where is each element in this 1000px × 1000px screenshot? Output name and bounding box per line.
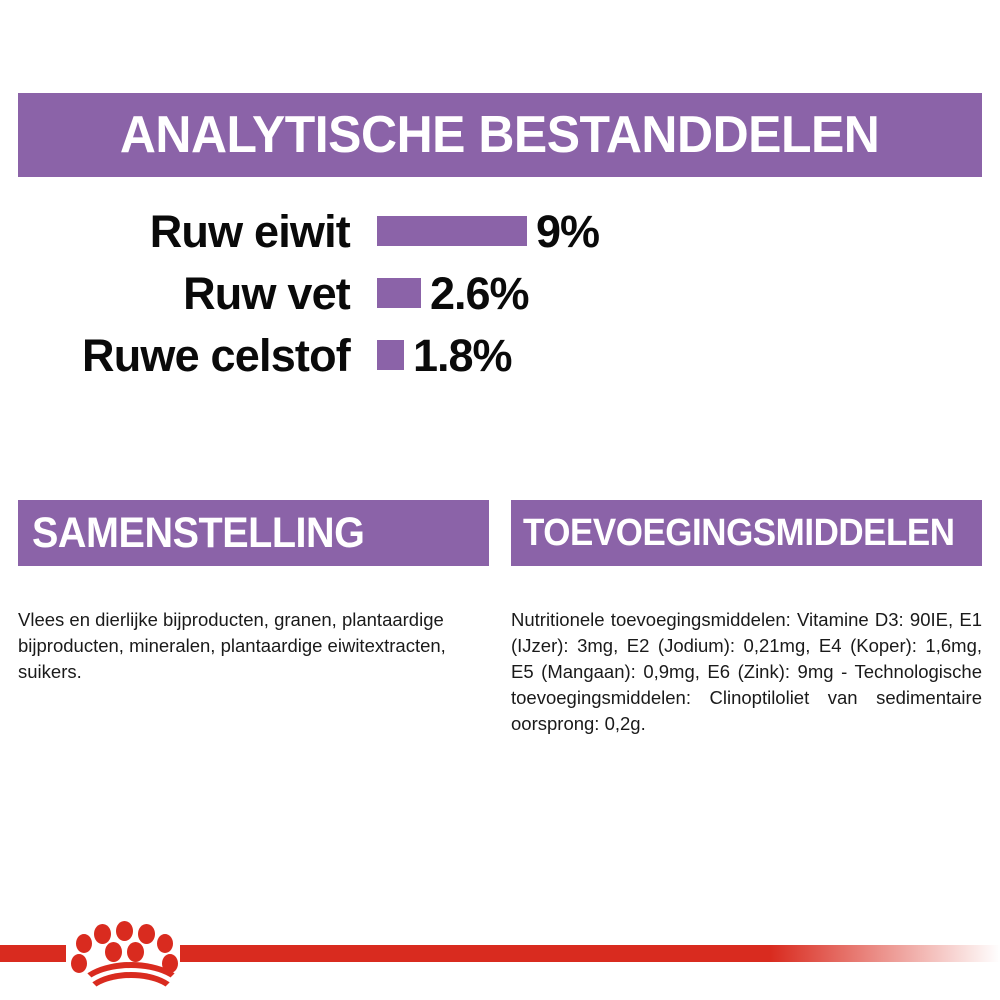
additives-title: TOEVOEGINGSMIDDELEN <box>523 514 955 552</box>
nutrient-value-crude-fibre: 1.8% <box>413 333 512 378</box>
nutrient-row: Ruw vet 2.6% <box>0 262 1000 324</box>
royal-canin-crown-icon <box>68 920 182 994</box>
footer <box>0 920 1000 1000</box>
nutrient-bar-crude-fibre <box>377 340 404 370</box>
nutrient-value-crude-protein: 9% <box>536 209 599 254</box>
nutrient-bar-crude-protein <box>377 216 527 246</box>
analytical-constituents-title: ANALYTISCHE BESTANDDELEN <box>120 109 880 161</box>
nutrient-label-crude-fibre: Ruwe celstof <box>0 333 350 378</box>
additives-banner: TOEVOEGINGSMIDDELEN (/kg) <box>511 500 982 566</box>
nutrient-row: Ruwe celstof 1.8% <box>0 324 1000 386</box>
nutrient-bar-group: 1.8% <box>377 333 512 378</box>
nutrient-bar-crude-fat <box>377 278 421 308</box>
nutrient-row: Ruw eiwit 9% <box>0 200 1000 262</box>
additives-text: Nutritionele toevoegingsmiddelen: Vitami… <box>511 607 982 737</box>
footer-rule-left <box>0 945 66 962</box>
nutrient-label-crude-protein: Ruw eiwit <box>0 209 350 254</box>
nutrient-value-crude-fat: 2.6% <box>430 271 529 316</box>
composition-banner: SAMENSTELLING <box>18 500 489 566</box>
footer-rule-right <box>180 945 1000 962</box>
analytical-constituents-chart: Ruw eiwit 9% Ruw vet 2.6% Ruwe celstof 1… <box>0 200 1000 386</box>
composition-text: Vlees en dierlijke bijproducten, granen,… <box>18 607 486 685</box>
nutrient-label-crude-fat: Ruw vet <box>0 271 350 316</box>
nutrient-bar-group: 9% <box>377 209 599 254</box>
analytical-constituents-banner: ANALYTISCHE BESTANDDELEN <box>18 93 982 177</box>
product-info-panel: ANALYTISCHE BESTANDDELEN Ruw eiwit 9% Ru… <box>0 0 1000 1000</box>
composition-title: SAMENSTELLING <box>32 512 364 555</box>
nutrient-bar-group: 2.6% <box>377 271 529 316</box>
